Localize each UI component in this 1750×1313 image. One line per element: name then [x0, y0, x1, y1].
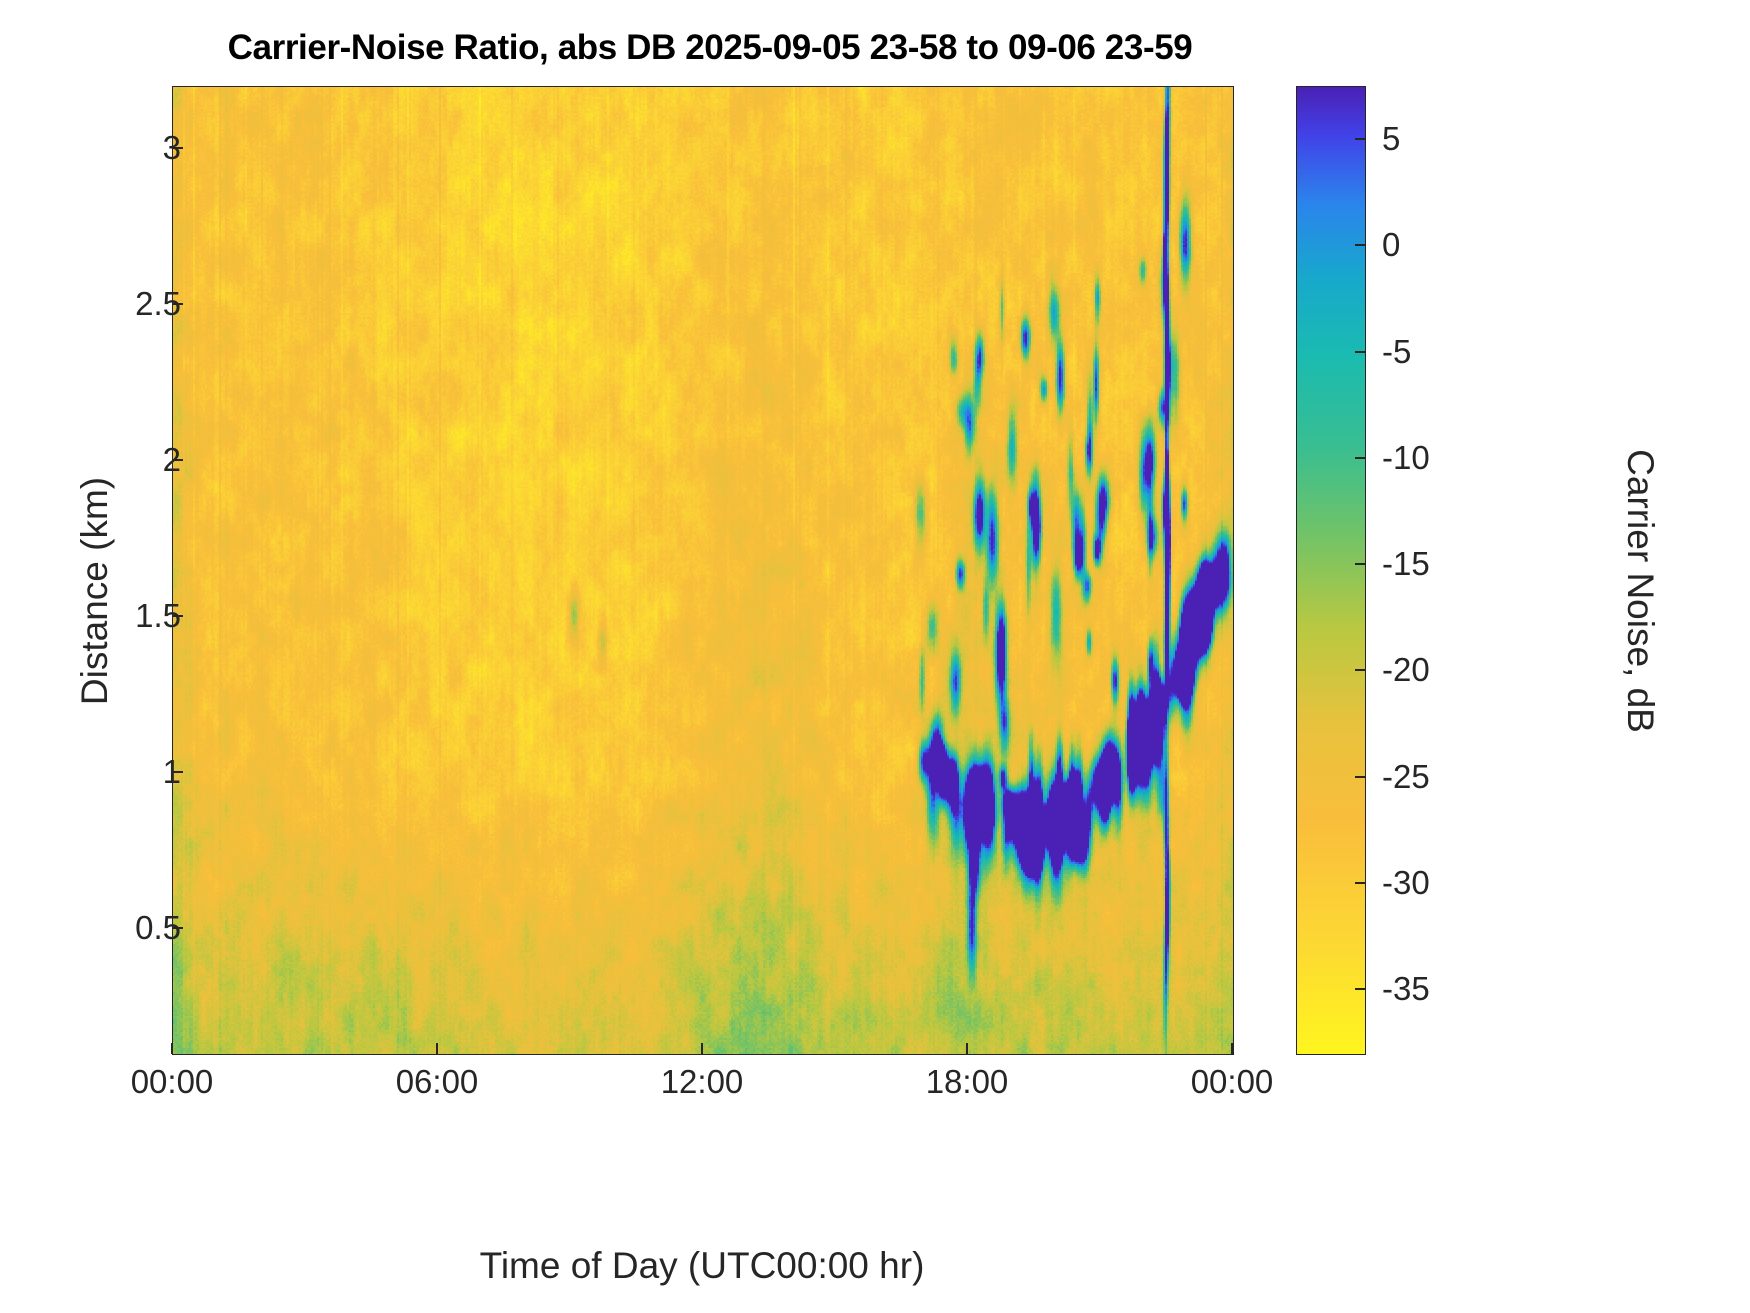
x-tick-label-2: 12:00: [661, 1063, 744, 1101]
colorbar-tick-label-5: -20: [1382, 651, 1430, 689]
y-tick-label-3: 2: [163, 441, 181, 479]
colorbar-tick-mark: [1355, 776, 1366, 778]
colorbar-tick-label-0: 5: [1382, 120, 1400, 158]
x-tick-label-4: 00:00: [1191, 1063, 1274, 1101]
x-axis-title: Time of Day (UTC00:00 hr): [172, 1245, 1232, 1287]
chart-figure: Carrier-Noise Ratio, abs DB 2025-09-05 2…: [0, 0, 1750, 1313]
colorbar-tick-mark: [1355, 351, 1366, 353]
chart-title: Carrier-Noise Ratio, abs DB 2025-09-05 2…: [0, 28, 1420, 68]
colorbar-tick-label-8: -35: [1382, 970, 1430, 1008]
colorbar-tick-label-3: -10: [1382, 439, 1430, 477]
x-tick-mark: [701, 1043, 703, 1054]
colorbar-tick-label-6: -25: [1382, 758, 1430, 796]
colorbar-tick-label-7: -30: [1382, 864, 1430, 902]
y-tick-label-5: 3: [163, 129, 181, 167]
colorbar[interactable]: [1296, 86, 1366, 1055]
x-tick-label-1: 06:00: [396, 1063, 479, 1101]
colorbar-gradient: [1297, 87, 1365, 1054]
colorbar-tick-label-1: 0: [1382, 226, 1400, 264]
x-tick-label-0: 00:00: [131, 1063, 214, 1101]
y-tick-label-2: 1.5: [135, 597, 181, 635]
x-tick-mark: [436, 1043, 438, 1054]
y-tick-label-4: 2.5: [135, 285, 181, 323]
x-tick-label-3: 18:00: [926, 1063, 1009, 1101]
colorbar-tick-mark: [1355, 669, 1366, 671]
x-tick-mark: [966, 1043, 968, 1054]
colorbar-tick-mark: [1355, 882, 1366, 884]
colorbar-tick-mark: [1355, 457, 1366, 459]
y-axis-title: Distance (km): [74, 291, 116, 891]
heatmap-canvas: [173, 87, 1233, 1054]
x-tick-mark: [1231, 1043, 1233, 1054]
colorbar-tick-label-2: -5: [1382, 333, 1411, 371]
colorbar-tick-mark: [1355, 988, 1366, 990]
colorbar-tick-mark: [1355, 138, 1366, 140]
y-tick-label-1: 1: [163, 753, 181, 791]
heatmap-plot-area[interactable]: [172, 86, 1234, 1055]
colorbar-tick-mark: [1355, 244, 1366, 246]
colorbar-title: Carrier Noise, dB: [1619, 291, 1661, 891]
colorbar-tick-label-4: -15: [1382, 545, 1430, 583]
y-tick-label-0: 0.5: [135, 909, 181, 947]
colorbar-tick-mark: [1355, 563, 1366, 565]
x-tick-mark: [171, 1043, 173, 1054]
